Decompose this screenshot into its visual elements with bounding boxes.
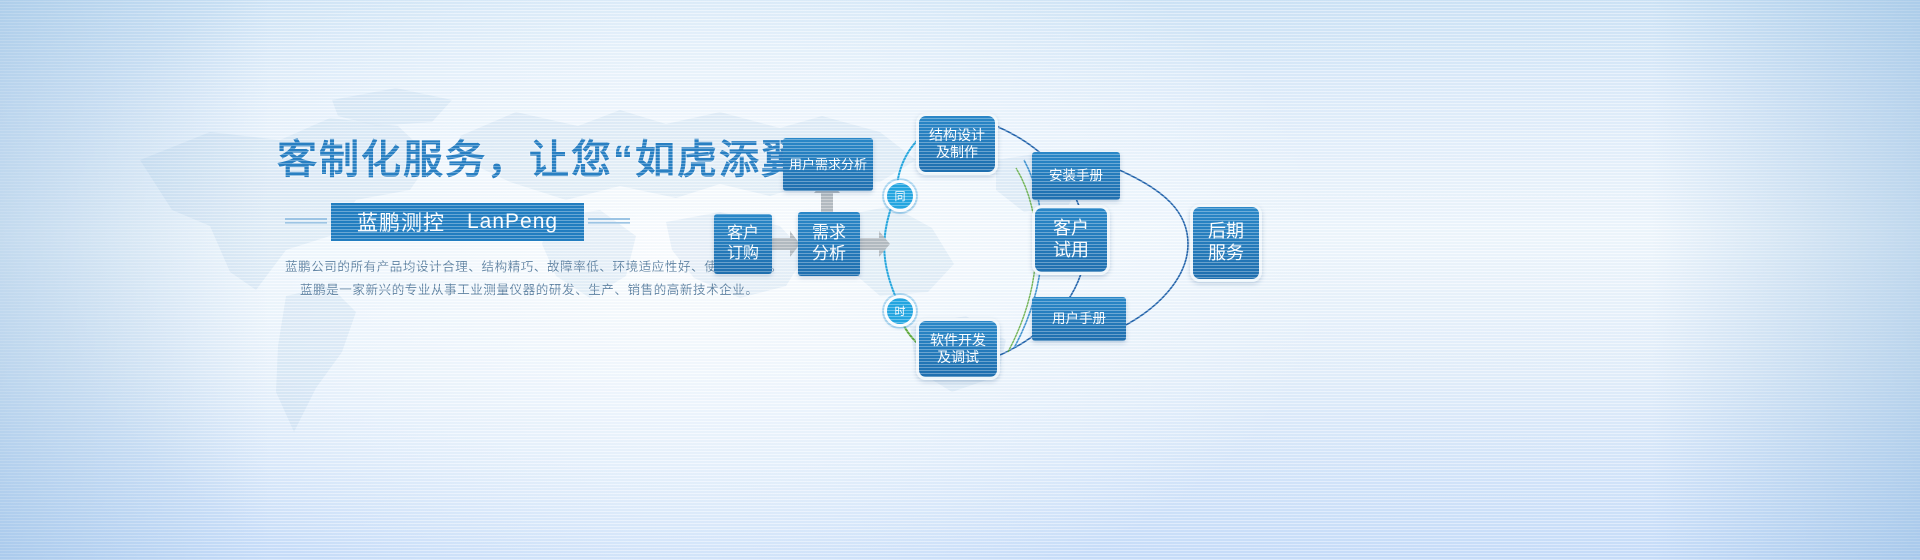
arrow-right-analysis-icon bbox=[860, 231, 890, 257]
edge-vignette bbox=[0, 0, 1920, 560]
brand-row: 蓝鹏测控 LanPeng bbox=[285, 203, 630, 241]
banner-stage: 客制化服务，让您“如虎添翼” 蓝鹏测控 LanPeng 蓝鹏公司的所有产品均设计… bbox=[0, 0, 1920, 560]
flow-node-after-sales-service[interactable]: 后期服务 bbox=[1190, 204, 1262, 282]
brand-name-en: LanPeng bbox=[467, 210, 558, 234]
flow-node-customer-order[interactable]: 客户订购 bbox=[714, 214, 772, 274]
badge-tong: 同 bbox=[884, 180, 916, 212]
flow-node-software-development[interactable]: 软件开发及调试 bbox=[916, 318, 1000, 380]
flow-connector-curves bbox=[0, 0, 1920, 560]
world-map-background bbox=[80, 40, 1160, 470]
flow-node-customer-trial[interactable]: 客户试用 bbox=[1032, 205, 1110, 275]
scanline-overlay bbox=[0, 0, 1920, 560]
flow-node-user-manual[interactable]: 用户手册 bbox=[1032, 297, 1126, 341]
brand-name-cn: 蓝鹏测控 bbox=[357, 207, 445, 237]
arrow-right-order-icon bbox=[772, 231, 800, 257]
page-title: 客制化服务，让您“如虎添翼” bbox=[277, 136, 825, 184]
description-line-2: 蓝鹏是一家新兴的专业从事工业测量仪器的研发、生产、销售的高新技术企业。 bbox=[300, 279, 759, 298]
flow-node-installation-manual[interactable]: 安装手册 bbox=[1032, 152, 1120, 200]
flow-node-user-requirement-analysis[interactable]: 用户需求分析 bbox=[783, 138, 873, 191]
brand-bar: 蓝鹏测控 LanPeng bbox=[331, 203, 584, 241]
rule-right-decoration bbox=[588, 218, 630, 226]
badge-shi: 时 bbox=[884, 295, 916, 327]
rule-left-decoration bbox=[285, 218, 327, 226]
flow-node-requirement-analysis[interactable]: 需求分析 bbox=[798, 212, 860, 276]
flow-node-structural-design[interactable]: 结构设计及制作 bbox=[916, 113, 998, 175]
description-line-1: 蓝鹏公司的所有产品均设计合理、结构精巧、故障率低、环境适应性好、使用寿命长。 bbox=[285, 256, 783, 275]
